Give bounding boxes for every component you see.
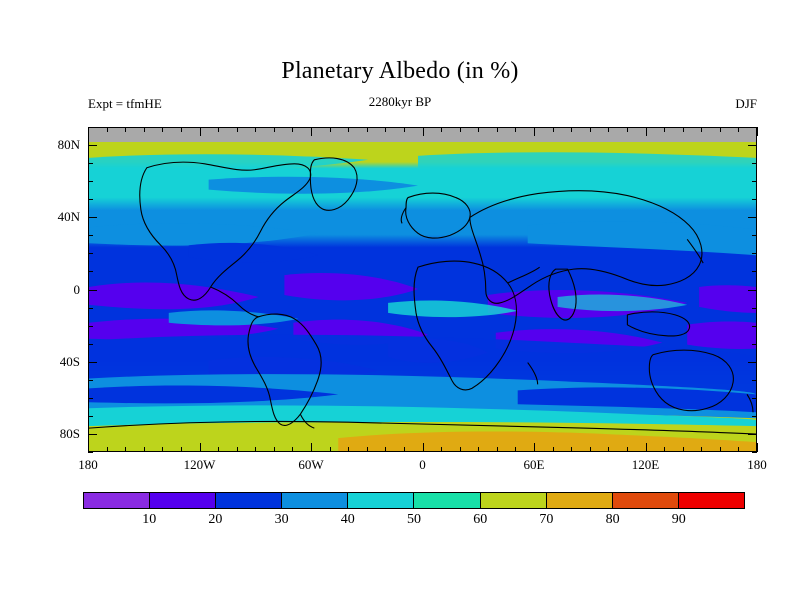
y-axis-tick xyxy=(88,326,93,327)
colorbar-tick-label: 40 xyxy=(341,512,355,528)
colorbar-segment xyxy=(613,493,679,508)
x-axis-tick xyxy=(404,447,405,452)
colorbar-segment xyxy=(679,493,744,508)
x-axis-tick xyxy=(237,127,238,132)
y-axis-tick xyxy=(88,380,93,381)
y-axis-tick xyxy=(88,362,97,363)
x-axis-tick xyxy=(478,127,479,132)
x-axis-tick xyxy=(441,127,442,132)
x-axis-tick xyxy=(385,447,386,452)
x-axis-tick xyxy=(757,443,758,452)
x-axis-tick xyxy=(330,447,331,452)
x-axis-tick xyxy=(311,127,312,136)
colorbar-tick-label: 90 xyxy=(672,512,686,528)
y-axis-tick xyxy=(88,181,93,182)
x-axis-tick xyxy=(683,447,684,452)
x-axis-tick xyxy=(218,447,219,452)
x-axis-tick xyxy=(627,447,628,452)
x-axis-tick xyxy=(460,447,461,452)
x-axis-tick xyxy=(608,447,609,452)
x-axis-tick xyxy=(107,127,108,132)
x-axis-tick xyxy=(664,447,665,452)
x-axis-tick xyxy=(274,127,275,132)
y-axis-tick xyxy=(752,380,757,381)
y-axis-tick xyxy=(748,145,757,146)
colorbar-tick-label: 10 xyxy=(142,512,156,528)
x-axis-tick xyxy=(515,447,516,452)
x-axis-tick xyxy=(553,447,554,452)
y-axis-tick xyxy=(88,217,97,218)
x-axis-tick xyxy=(125,127,126,132)
y-axis-tick xyxy=(88,253,93,254)
x-axis-tick xyxy=(646,443,647,452)
x-axis-tick xyxy=(590,447,591,452)
x-axis-tick xyxy=(255,127,256,132)
x-axis-tick xyxy=(292,127,293,132)
x-axis-tick xyxy=(330,127,331,132)
colorbar-segment xyxy=(150,493,216,508)
x-axis-tick xyxy=(367,447,368,452)
x-axis-tick xyxy=(292,447,293,452)
albedo-map xyxy=(89,128,756,451)
x-axis-tick xyxy=(441,447,442,452)
y-axis-tick xyxy=(752,163,757,164)
x-axis-tick xyxy=(608,127,609,132)
x-axis-tick xyxy=(460,127,461,132)
x-axis-tick xyxy=(627,127,628,132)
colorbar-tick-label: 60 xyxy=(473,512,487,528)
colorbar-segment xyxy=(348,493,414,508)
x-axis-label: 60W xyxy=(298,457,323,473)
x-axis-tick xyxy=(125,447,126,452)
x-axis-tick xyxy=(200,127,201,136)
colorbar-segment xyxy=(547,493,613,508)
x-axis-tick xyxy=(534,443,535,452)
x-axis-tick xyxy=(181,127,182,132)
x-axis-tick xyxy=(311,443,312,452)
y-axis-tick xyxy=(752,398,757,399)
x-axis-tick xyxy=(701,447,702,452)
x-axis-tick xyxy=(144,447,145,452)
y-axis-tick xyxy=(752,452,757,453)
colorbar-segment xyxy=(481,493,547,508)
x-axis-label: 180 xyxy=(747,457,767,473)
y-axis-tick xyxy=(88,235,93,236)
x-axis-tick xyxy=(497,447,498,452)
colorbar-segment xyxy=(414,493,480,508)
x-axis-tick xyxy=(385,127,386,132)
y-axis-tick xyxy=(88,271,93,272)
y-axis-tick xyxy=(88,416,93,417)
colorbar-tick-label: 50 xyxy=(407,512,421,528)
y-axis-tick xyxy=(752,326,757,327)
y-axis-tick xyxy=(752,344,757,345)
page-title: Planetary Albedo (in %) xyxy=(0,58,800,85)
experiment-label: Expt = tfmHE xyxy=(88,96,162,112)
y-axis-tick xyxy=(88,452,93,453)
y-axis-tick xyxy=(752,127,757,128)
x-axis-tick xyxy=(200,443,201,452)
x-axis-tick xyxy=(255,447,256,452)
x-axis-tick xyxy=(515,127,516,132)
x-axis-label: 60E xyxy=(524,457,545,473)
y-axis-tick xyxy=(752,199,757,200)
x-axis-tick xyxy=(571,447,572,452)
x-axis-tick xyxy=(107,447,108,452)
colorbar-tick-label: 20 xyxy=(208,512,222,528)
x-axis-tick xyxy=(162,447,163,452)
x-axis-tick xyxy=(274,447,275,452)
x-axis-tick xyxy=(348,447,349,452)
y-axis-tick xyxy=(88,290,97,291)
x-axis-tick xyxy=(590,127,591,132)
y-axis-tick xyxy=(88,145,97,146)
x-axis-tick xyxy=(683,127,684,132)
x-axis-tick xyxy=(404,127,405,132)
x-axis-tick xyxy=(423,443,424,452)
x-axis-label: 120E xyxy=(632,457,659,473)
x-axis-tick xyxy=(144,127,145,132)
x-axis-tick xyxy=(218,127,219,132)
colorbar-segment xyxy=(282,493,348,508)
x-axis-tick xyxy=(534,127,535,136)
x-axis-tick xyxy=(181,447,182,452)
x-axis-tick xyxy=(738,447,739,452)
x-axis-label: 180 xyxy=(78,457,98,473)
x-axis-tick xyxy=(423,127,424,136)
y-axis-tick xyxy=(88,434,97,435)
x-axis-tick xyxy=(367,127,368,132)
x-axis-tick xyxy=(88,443,89,452)
colorbar-tick-label: 30 xyxy=(275,512,289,528)
x-axis-tick xyxy=(553,127,554,132)
x-axis-tick xyxy=(701,127,702,132)
colorbar-segment xyxy=(216,493,282,508)
y-axis-tick xyxy=(88,344,93,345)
x-axis-tick xyxy=(88,127,89,136)
y-axis-tick xyxy=(88,163,93,164)
x-axis-tick xyxy=(237,447,238,452)
x-axis-tick xyxy=(720,127,721,132)
x-axis-tick xyxy=(664,127,665,132)
albedo-plot-page: Planetary Albedo (in %) 2280kyr BP Expt … xyxy=(0,0,800,600)
x-axis-tick xyxy=(720,447,721,452)
x-axis-tick xyxy=(478,447,479,452)
y-axis-tick xyxy=(88,398,93,399)
y-axis-tick xyxy=(752,271,757,272)
y-axis-tick xyxy=(88,308,93,309)
y-axis-tick xyxy=(748,362,757,363)
y-axis-tick xyxy=(88,127,93,128)
x-axis-tick xyxy=(738,127,739,132)
y-axis-tick xyxy=(748,434,757,435)
x-axis-tick xyxy=(497,127,498,132)
colorbar-tick-label: 80 xyxy=(606,512,620,528)
y-axis-tick xyxy=(752,308,757,309)
y-axis-tick xyxy=(748,290,757,291)
x-axis-tick xyxy=(348,127,349,132)
x-axis-tick xyxy=(571,127,572,132)
x-axis-tick xyxy=(162,127,163,132)
colorbar-tick-label: 70 xyxy=(539,512,553,528)
y-axis-tick xyxy=(752,235,757,236)
x-axis-tick xyxy=(757,127,758,136)
x-axis-label: 120W xyxy=(184,457,216,473)
colorbar-segment xyxy=(84,493,150,508)
season-label: DJF xyxy=(735,96,757,112)
y-axis-tick xyxy=(748,217,757,218)
colorbar xyxy=(83,492,745,509)
x-axis-label: 0 xyxy=(419,457,426,473)
x-axis-tick xyxy=(646,127,647,136)
y-axis-tick xyxy=(88,199,93,200)
y-axis-tick xyxy=(752,416,757,417)
map-plot-area xyxy=(88,127,757,452)
y-axis-tick xyxy=(752,253,757,254)
y-axis-tick xyxy=(752,181,757,182)
